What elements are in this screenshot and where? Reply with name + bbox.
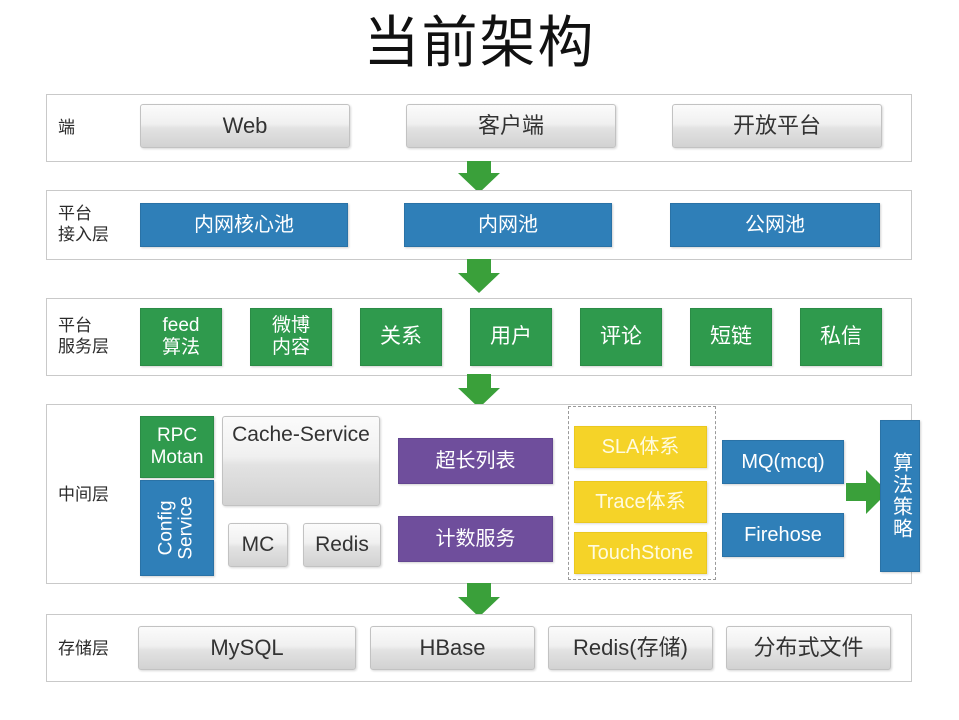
node-intranet-core-pool[interactable]: 内网核心池 <box>140 203 348 247</box>
node-mysql-label: MySQL <box>210 635 283 660</box>
node-open-platform-label: 开放平台 <box>733 113 821 138</box>
node-public-pool[interactable]: 公网池 <box>670 203 880 247</box>
node-mc[interactable]: MC <box>228 523 288 567</box>
node-redis-storage-label: Redis(存储) <box>573 635 688 660</box>
node-weibo-content[interactable]: 微博 内容 <box>250 308 332 366</box>
node-weibo-content-label: 微博 内容 <box>272 315 310 359</box>
node-intranet-pool[interactable]: 内网池 <box>404 203 612 247</box>
node-mq-mcq[interactable]: MQ(mcq) <box>722 440 844 484</box>
node-touchstone[interactable]: TouchStone <box>574 532 707 574</box>
node-public-pool-label: 公网池 <box>745 214 805 237</box>
node-cache-service-label: Cache-Service <box>232 423 370 447</box>
node-counter-service-label: 计数服务 <box>436 528 516 551</box>
node-long-list-label: 超长列表 <box>436 450 516 473</box>
node-client-app-label: 客户端 <box>478 113 544 138</box>
node-relationship-label: 关系 <box>380 325 422 349</box>
node-trace-system-label: Trace体系 <box>595 491 685 514</box>
node-user[interactable]: 用户 <box>470 308 552 366</box>
node-feed-algorithm-label: feed 算法 <box>162 315 200 359</box>
node-firehose[interactable]: Firehose <box>722 513 844 557</box>
node-web-label: Web <box>223 113 268 138</box>
node-user-label: 用户 <box>490 325 532 349</box>
layer-label-middleware: 中间层 <box>58 484 128 505</box>
node-intranet-pool-label: 内网池 <box>478 214 538 237</box>
node-feed-algorithm[interactable]: feed 算法 <box>140 308 222 366</box>
node-mq-mcq-label: MQ(mcq) <box>741 451 824 474</box>
node-touchstone-label: TouchStone <box>588 542 694 565</box>
arrow-shaft <box>467 374 491 388</box>
node-sla-system-label: SLA体系 <box>602 436 680 459</box>
arrow-shaft <box>467 161 491 173</box>
node-algorithm-strategy-label: 算法策略 <box>889 452 912 540</box>
layer-label-service: 平台 服务层 <box>58 315 124 357</box>
node-client-app[interactable]: 客户端 <box>406 104 616 148</box>
node-direct-message-label: 私信 <box>820 325 862 349</box>
arrow-head <box>458 273 500 293</box>
node-mysql[interactable]: MySQL <box>138 626 356 670</box>
node-direct-message[interactable]: 私信 <box>800 308 882 366</box>
node-sla-system[interactable]: SLA体系 <box>574 426 707 468</box>
arrow-shaft <box>846 483 866 501</box>
node-hbase[interactable]: HBase <box>370 626 535 670</box>
node-relationship[interactable]: 关系 <box>360 308 442 366</box>
node-firehose-label: Firehose <box>744 524 822 547</box>
arrow-shaft <box>467 259 491 273</box>
node-rpc-motan-label: RPC Motan <box>151 425 204 469</box>
node-comment-label: 评论 <box>600 325 642 349</box>
node-redis[interactable]: Redis <box>303 523 381 567</box>
node-short-link-label: 短链 <box>710 325 752 349</box>
node-counter-service[interactable]: 计数服务 <box>398 516 553 562</box>
node-algorithm-strategy[interactable]: 算法策略 <box>880 420 920 572</box>
node-config-service-label: Config Service <box>157 496 197 559</box>
layer-label-client: 端 <box>58 117 108 138</box>
node-mc-label: MC <box>242 533 275 557</box>
layer-label-access: 平台 接入层 <box>58 203 124 245</box>
node-comment[interactable]: 评论 <box>580 308 662 366</box>
node-rpc-motan[interactable]: RPC Motan <box>140 416 214 478</box>
page-title: 当前架构 <box>0 8 959 78</box>
architecture-diagram: 当前架构 端 Web 客户端 开放平台 平台 接入层 内网核心池 内网池 公网池… <box>0 0 959 720</box>
node-long-list[interactable]: 超长列表 <box>398 438 553 484</box>
node-redis-storage[interactable]: Redis(存储) <box>548 626 713 670</box>
node-distributed-file[interactable]: 分布式文件 <box>726 626 891 670</box>
node-cache-service[interactable]: Cache-Service <box>222 416 380 506</box>
node-hbase-label: HBase <box>419 635 485 660</box>
node-trace-system[interactable]: Trace体系 <box>574 481 707 523</box>
node-open-platform[interactable]: 开放平台 <box>672 104 882 148</box>
node-config-service[interactable]: Config Service <box>140 480 214 576</box>
node-short-link[interactable]: 短链 <box>690 308 772 366</box>
node-redis-label: Redis <box>315 533 369 557</box>
arrow-shaft <box>467 583 491 597</box>
node-web[interactable]: Web <box>140 104 350 148</box>
node-distributed-file-label: 分布式文件 <box>753 635 863 660</box>
node-intranet-core-pool-label: 内网核心池 <box>194 214 294 237</box>
layer-label-storage: 存储层 <box>58 638 128 659</box>
